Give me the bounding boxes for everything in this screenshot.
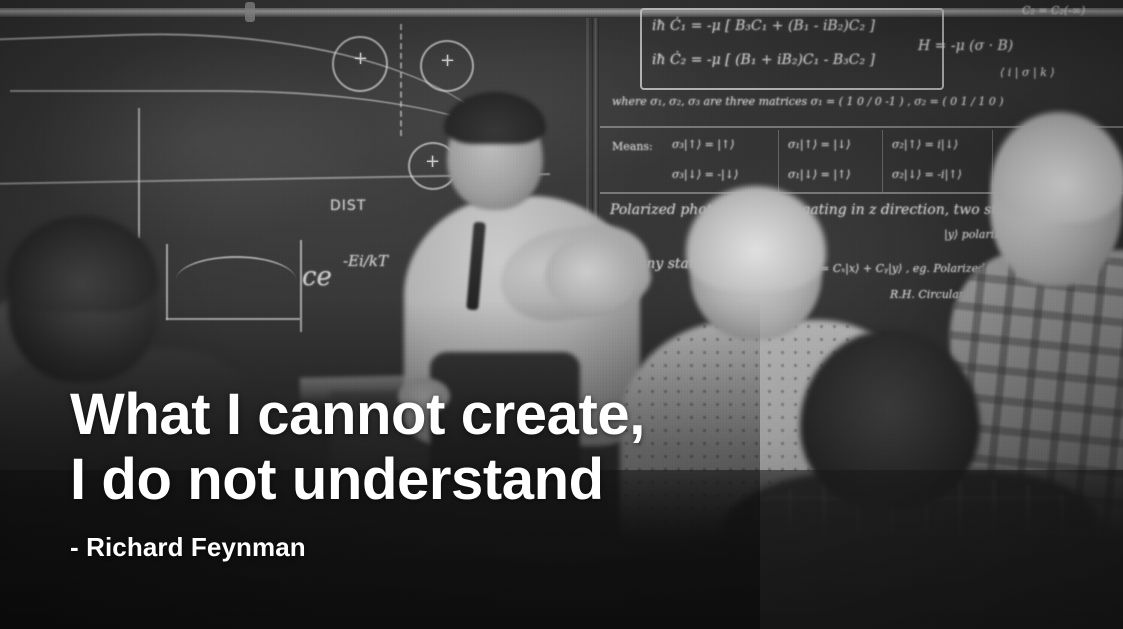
- well-axis-vertical: [166, 244, 168, 320]
- quote-attribution: - Richard Feynman: [70, 532, 770, 563]
- well-axis-bottom: [166, 318, 300, 320]
- blackboard-top-rail: [0, 8, 1123, 17]
- quote-line-2: I do not understand: [70, 447, 770, 512]
- quote-line-1: What I cannot create,: [70, 382, 770, 447]
- table-divider-2: [882, 130, 883, 192]
- feynman-pointing-hand: [545, 236, 637, 314]
- charge-circle-2: [420, 40, 474, 92]
- well-axis-right: [300, 240, 302, 332]
- charge-circle-1: [332, 36, 388, 92]
- quote-text: What I cannot create, I do not understan…: [70, 382, 770, 512]
- chalk-vertical-axis-left: [138, 108, 140, 238]
- boxed-equation-frame: [640, 8, 944, 90]
- rail-clip: [245, 2, 255, 22]
- well-curve: [176, 256, 296, 304]
- table-divider-1: [778, 130, 779, 192]
- quote-caption: What I cannot create, I do not understan…: [70, 382, 770, 563]
- quote-image: + + + + DIST ce -Ei/kT iħ Ċ₁ = -μ [ B₃C₁…: [0, 0, 1123, 629]
- dashed-axis: [400, 24, 402, 136]
